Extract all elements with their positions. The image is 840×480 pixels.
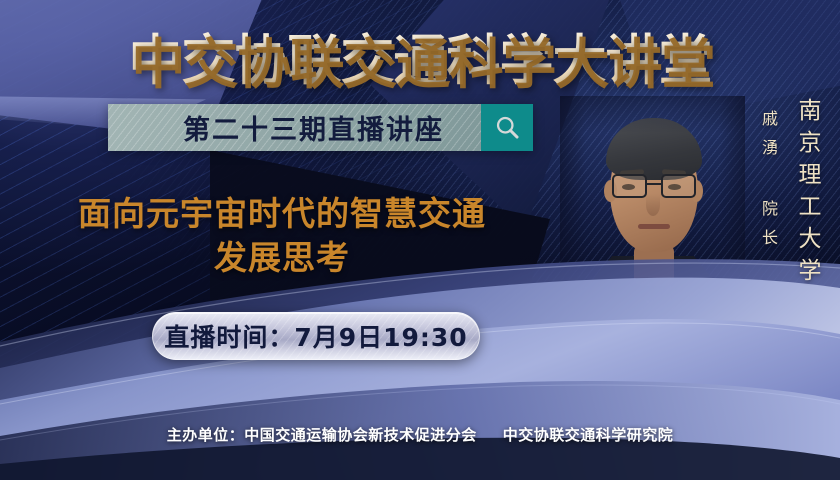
- footer-prefix: 主办单位：: [167, 426, 245, 444]
- episode-banner: 第二十三期直播讲座: [108, 104, 533, 151]
- eyeglass-lens-left: [612, 174, 647, 198]
- footer-org-1: 中国交通运输协会新技术促进分会: [244, 426, 477, 444]
- lecture-title-line-1: 面向元宇宙时代的智慧交通: [24, 192, 540, 236]
- episode-label: 第二十三期直播讲座: [108, 104, 481, 151]
- footer-organizers: 主办单位：中国交通运输协会新技术促进分会中交协联交通科学研究院: [0, 424, 840, 445]
- live-time-badge: 直播时间：7月9日19:30: [152, 312, 480, 360]
- speaker-info: 戚湧 院长 南京理工大学: [756, 98, 824, 290]
- page-title: 中交协联交通科学大讲堂: [0, 16, 840, 95]
- lecture-title-line-2: 发展思考: [24, 236, 540, 280]
- eyeglass-lens-right: [661, 174, 696, 198]
- webinar-poster: 中交协联交通科学大讲堂 第二十三期直播讲座 面向元宇宙时代的智慧交通 发展思考 …: [0, 0, 840, 480]
- silk-wave-decoration: [0, 250, 840, 480]
- eyeglass-bridge: [647, 183, 661, 185]
- search-icon-container[interactable]: [481, 104, 533, 151]
- speaker-name-title: 戚湧 院长: [756, 110, 780, 258]
- portrait-mouth: [638, 224, 670, 229]
- speaker-organization: 南京理工大学: [790, 98, 824, 290]
- footer-org-2: 中交协联交通科学研究院: [503, 426, 674, 444]
- lecture-title: 面向元宇宙时代的智慧交通 发展思考: [24, 192, 540, 280]
- portrait-nose: [646, 194, 660, 216]
- search-icon: [494, 114, 521, 141]
